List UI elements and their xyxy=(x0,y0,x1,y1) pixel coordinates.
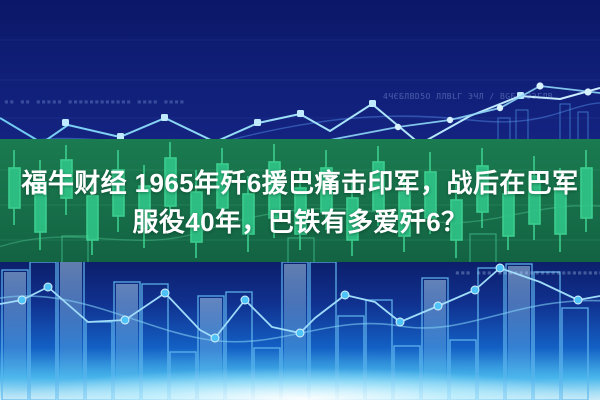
headline-title: 福牛财经 1965年歼6援巴痛击印军，战后在巴军 服役40年，巴铁有多爱歼6？ xyxy=(0,164,600,242)
headline-line-2: 服役40年，巴铁有多爱歼6？ xyxy=(0,203,600,242)
thumbnail-canvas: ▪︎▪︎ ▪︎▪︎ ▪︎▪︎▪︎▪︎▪︎ ▪︎▪︎▪︎▪︎▪︎▪︎▪︎▪︎▪︎▪… xyxy=(0,0,600,400)
top-navy-band xyxy=(0,0,600,139)
decorative-ticker-mid: 4ЧЄБЛВD5О ЛЛВLГ ЭЧЛ / ВGБ ЗЭЭГЛВ xyxy=(383,92,553,101)
headline-line-1: 福牛财经 1965年歼6援巴痛击印军，战后在巴军 xyxy=(0,164,600,203)
decorative-ticker-left: ▪︎▪︎ ▪︎▪︎ ▪︎▪︎▪︎▪︎▪︎ ▪︎▪︎▪︎▪︎▪︎▪︎▪︎▪︎▪︎▪… xyxy=(4,97,185,106)
bottom-blue-band xyxy=(0,262,600,400)
decorative-ticker-bottom: ▪︎▪︎▪︎ ▪︎▪︎▪︎ ▪︎▪︎▪︎▪︎▪︎▪︎▪︎▪︎▪︎▪︎▪︎▪︎▪︎… xyxy=(455,268,600,277)
